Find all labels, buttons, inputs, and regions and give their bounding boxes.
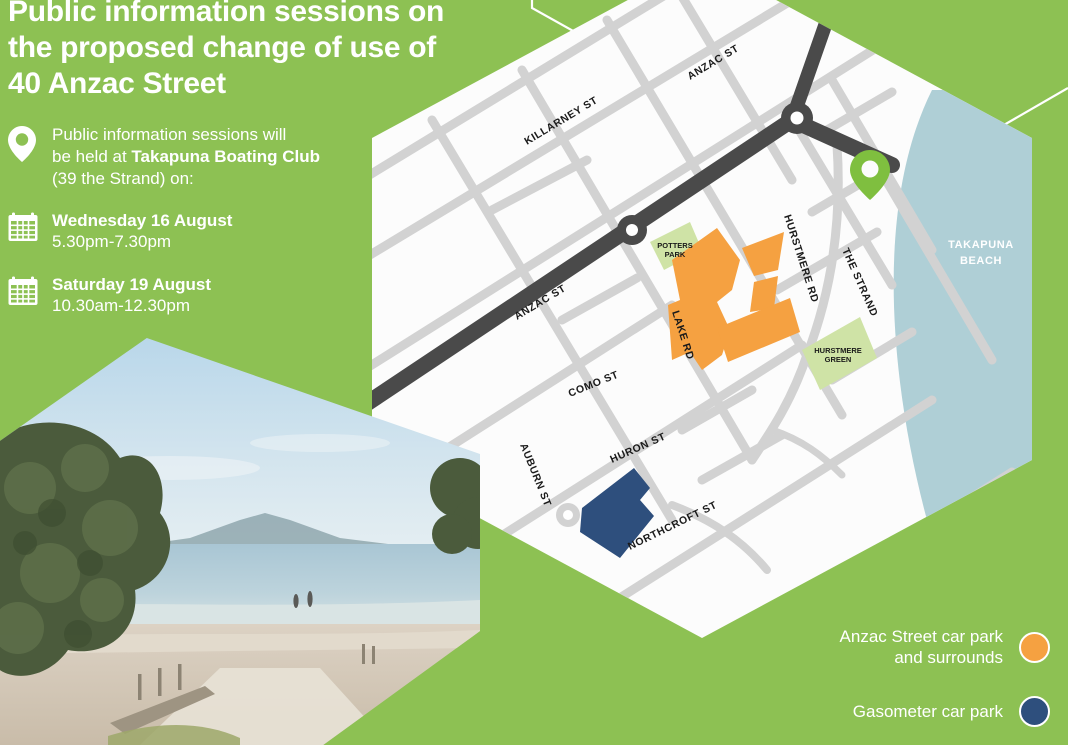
beach-label-line1: TAKAPUNA — [948, 239, 1014, 251]
session-2-date: Saturday 19 August — [52, 274, 211, 295]
session-2-text: Saturday 19 August 10.30am-12.30pm — [52, 274, 211, 316]
legend-label-gasometer: Gasometer car park — [853, 701, 1019, 722]
calendar-icon — [8, 210, 52, 242]
session-1-time: 5.30pm-7.30pm — [52, 231, 232, 252]
legend-label-anzac: Anzac Street car park and surrounds — [840, 626, 1019, 668]
map-pin-icon — [8, 124, 52, 162]
park-label-potters: POTTERS — [657, 241, 692, 250]
beach-label-line2: BEACH — [960, 255, 1002, 267]
blue-circle-swatch — [1019, 696, 1050, 727]
legend-row-anzac: Anzac Street car park and surrounds — [770, 626, 1050, 668]
legend-anzac-line2: and surrounds — [894, 648, 1003, 667]
venue-name: Takapuna Boating Club — [131, 147, 320, 166]
venue-row: Public information sessions will be held… — [0, 124, 470, 190]
venue-line1: Public information sessions will — [52, 125, 286, 144]
venue-line3: (39 the Strand) on: — [52, 169, 194, 188]
legend-row-gasometer: Gasometer car park — [770, 696, 1050, 727]
venue-text: Public information sessions will be held… — [52, 124, 320, 190]
legend-anzac-line1: Anzac Street car park — [840, 627, 1003, 646]
page-title: Public information sessions on the propo… — [0, 0, 450, 102]
session-2-time: 10.30am-12.30pm — [52, 295, 211, 316]
orange-circle-swatch — [1019, 632, 1050, 663]
session-row-1: Wednesday 16 August 5.30pm-7.30pm — [0, 210, 470, 252]
calendar-icon — [8, 274, 52, 306]
map-legend: Anzac Street car park and surrounds Gaso… — [770, 626, 1050, 727]
session-row-2: Saturday 19 August 10.30am-12.30pm — [0, 274, 470, 316]
session-1-text: Wednesday 16 August 5.30pm-7.30pm — [52, 210, 232, 252]
roundabout-small — [556, 503, 580, 527]
park-label-hurstmere-2: GREEN — [825, 355, 852, 364]
park-label-potters-2: PARK — [665, 250, 686, 259]
session-1-date: Wednesday 16 August — [52, 210, 232, 231]
info-panel: Public information sessions on the propo… — [0, 0, 470, 340]
venue-line2-prefix: be held at — [52, 147, 131, 166]
park-label-hurstmere: HURSTMERE — [814, 346, 862, 355]
